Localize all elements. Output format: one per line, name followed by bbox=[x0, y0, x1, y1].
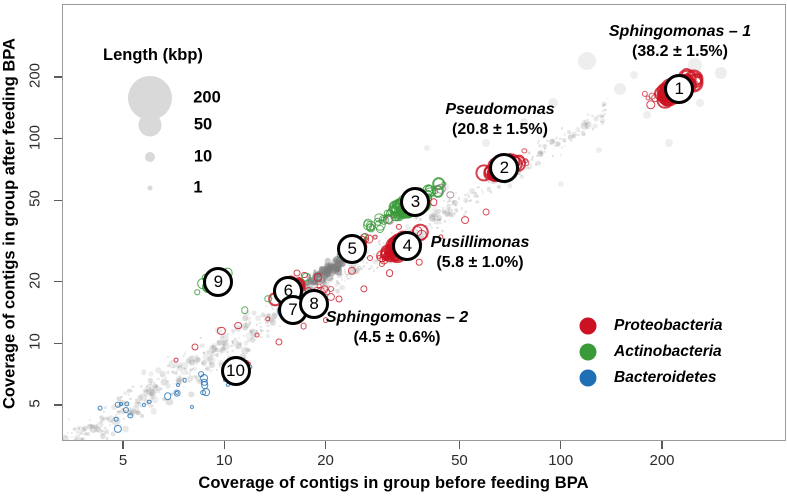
y-tick-label-200: 200 bbox=[22, 67, 48, 84]
callout-marker-8: 8 bbox=[299, 289, 329, 319]
y-tick-label-20: 20 bbox=[22, 272, 48, 289]
x-tick-label-5: 5 bbox=[119, 452, 127, 469]
y-tick-mark-200 bbox=[54, 76, 62, 78]
legend-dot-bacteroidetes bbox=[580, 370, 597, 387]
y-tick-label-10: 10 bbox=[22, 333, 48, 350]
y-tick-label-100: 100 bbox=[22, 129, 48, 146]
taxon-name: Sphingomonas – 1 bbox=[609, 23, 751, 40]
y-tick-label-50: 50 bbox=[22, 190, 48, 207]
y-axis-title: Coverage of contigs in group after feedi… bbox=[1, 4, 20, 444]
taxon-percentage: (4.5 ± 0.6%) bbox=[326, 328, 468, 348]
x-tick-mark-100 bbox=[560, 441, 562, 449]
size-legend-bubble-10 bbox=[145, 152, 155, 162]
taxon-label-4: Sphingomonas – 2(4.5 ± 0.6%) bbox=[326, 308, 468, 349]
callout-marker-10: 10 bbox=[221, 356, 251, 386]
taxon-label-1: Sphingomonas – 1(38.2 ± 1.5%) bbox=[609, 22, 751, 63]
y-tick-label-5: 5 bbox=[22, 395, 48, 412]
legend-label-proteobacteria: Proteobacteria bbox=[614, 317, 723, 335]
size-legend-bubble-50 bbox=[139, 114, 162, 137]
scatter-plot-figure: 51020501002005102050100200 12345678910Sp… bbox=[0, 0, 787, 502]
y-tick-mark-50 bbox=[54, 200, 62, 202]
legend-label-actinobacteria: Actinobacteria bbox=[614, 343, 722, 361]
callout-marker-1: 1 bbox=[664, 74, 694, 104]
x-tick-mark-5 bbox=[122, 441, 124, 449]
x-tick-label-10: 10 bbox=[216, 452, 233, 469]
taxon-percentage: (20.8 ± 1.5%) bbox=[445, 120, 554, 140]
taxon-percentage: (38.2 ± 1.5%) bbox=[609, 42, 751, 62]
callout-marker-5: 5 bbox=[337, 234, 367, 264]
x-tick-mark-20 bbox=[325, 441, 327, 449]
size-legend-label-50: 50 bbox=[194, 116, 212, 135]
x-tick-label-50: 50 bbox=[451, 452, 468, 469]
taxon-label-3: Pusillimonas(5.8 ± 1.0%) bbox=[431, 233, 530, 274]
legend-dot-actinobacteria bbox=[580, 344, 597, 361]
taxon-label-2: Pseudomonas(20.8 ± 1.5%) bbox=[445, 100, 554, 141]
y-tick-mark-10 bbox=[54, 343, 62, 345]
legend-label-bacteroidetes: Bacteroidetes bbox=[614, 369, 717, 387]
taxon-name: Pusillimonas bbox=[431, 234, 530, 251]
x-tick-label-200: 200 bbox=[649, 452, 674, 469]
legend-dot-proteobacteria bbox=[580, 318, 597, 335]
size-legend-label-200: 200 bbox=[193, 89, 221, 108]
x-tick-label-20: 20 bbox=[317, 452, 334, 469]
callout-marker-9: 9 bbox=[203, 267, 233, 297]
callout-marker-4: 4 bbox=[392, 231, 422, 261]
x-axis-title: Coverage of contigs in group before feed… bbox=[0, 474, 787, 493]
x-tick-label-100: 100 bbox=[548, 452, 573, 469]
callout-marker-3: 3 bbox=[400, 187, 430, 217]
size-legend-bubble-1 bbox=[148, 186, 153, 191]
x-tick-mark-50 bbox=[459, 441, 461, 449]
y-tick-mark-5 bbox=[54, 404, 62, 406]
size-legend-label-10: 10 bbox=[194, 148, 212, 167]
y-tick-mark-100 bbox=[54, 138, 62, 140]
size-legend-label-1: 1 bbox=[193, 179, 202, 198]
x-tick-mark-10 bbox=[224, 441, 226, 449]
x-tick-mark-200 bbox=[661, 441, 663, 449]
taxon-percentage: (5.8 ± 1.0%) bbox=[431, 253, 530, 273]
size-legend-title: Length (kbp) bbox=[103, 46, 203, 65]
y-tick-mark-20 bbox=[54, 281, 62, 283]
taxon-name: Sphingomonas – 2 bbox=[326, 309, 468, 326]
taxon-name: Pseudomonas bbox=[445, 101, 554, 118]
callout-marker-2: 2 bbox=[489, 153, 519, 183]
